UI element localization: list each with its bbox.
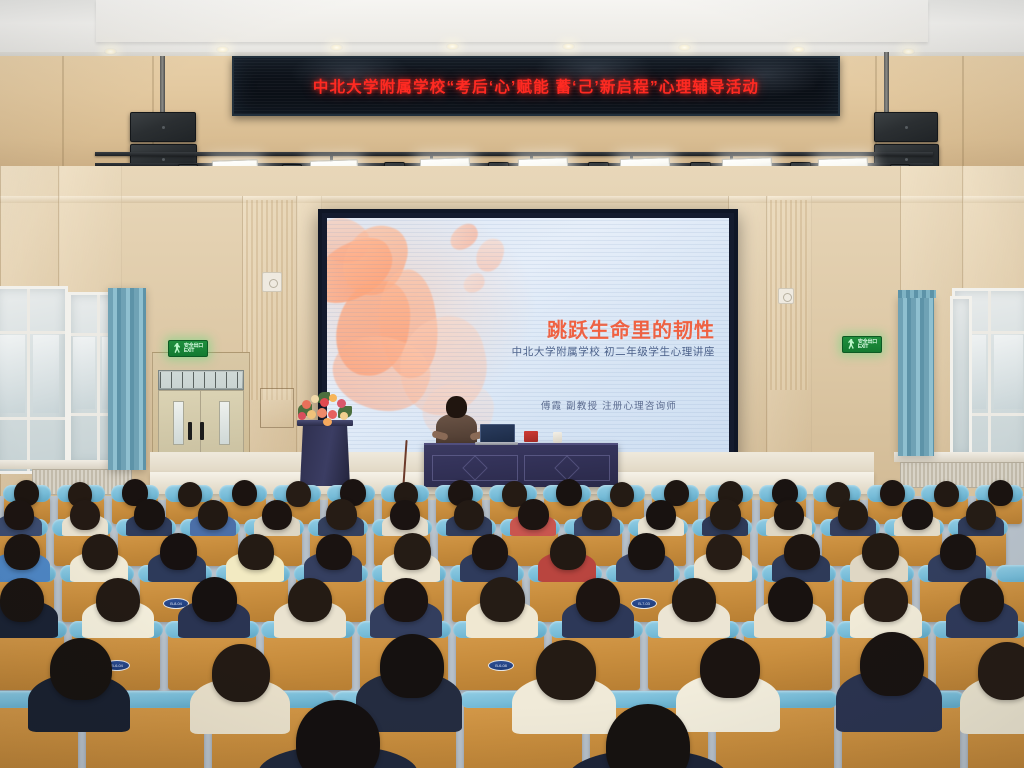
audience-head <box>394 533 431 570</box>
acoustic-slat-panel <box>246 200 294 400</box>
audience-head <box>480 577 525 622</box>
audience-head <box>518 499 549 530</box>
audience-head <box>50 638 112 700</box>
door-handle[interactable] <box>188 422 192 440</box>
audience-head <box>960 578 1004 622</box>
audience-head <box>384 578 428 622</box>
ceiling-slab <box>96 0 928 42</box>
audience-head <box>550 534 586 570</box>
audience-head <box>238 534 274 570</box>
exit-sign-left: 安全出口EXIT <box>168 340 208 357</box>
presenter-head <box>446 396 467 418</box>
audience-head <box>380 634 444 698</box>
wall-seam <box>962 56 964 166</box>
audience-head <box>576 578 620 622</box>
audience-area: B-8-02 B-8-04 B-8-06 B-7-03 B-7-05 <box>0 478 1024 768</box>
audience-head <box>4 534 40 570</box>
projection-screen: 跳跃生命里的韧性 中北大学附属学校 初二年级学生心理讲座 傅霞 副教授 注册心理… <box>318 209 738 462</box>
audience-head <box>934 481 959 507</box>
door-handle[interactable] <box>200 422 204 440</box>
curtain-right <box>898 296 934 456</box>
audience-head <box>978 642 1024 700</box>
audience-head <box>96 578 140 622</box>
downlight <box>446 43 459 50</box>
audience-head <box>966 500 996 530</box>
curtain-valance-right <box>898 290 936 298</box>
downlight <box>216 46 229 53</box>
desk-red-item <box>524 431 538 442</box>
audience-head <box>134 499 165 530</box>
audience-head <box>774 500 804 530</box>
window-right-outer <box>950 296 972 458</box>
audience-head <box>326 499 357 530</box>
audience-head <box>646 500 676 530</box>
audience-head <box>556 479 582 506</box>
desk-cup <box>553 432 562 443</box>
downlight <box>104 48 117 55</box>
audience-head <box>628 533 665 570</box>
audience-head <box>0 578 44 622</box>
audience-head <box>706 534 742 570</box>
wall-control-plate[interactable] <box>262 272 282 292</box>
audience-head <box>940 534 976 570</box>
audience-head <box>178 482 202 507</box>
audience-head <box>4 500 34 530</box>
audience-head <box>902 499 933 530</box>
running-man-icon <box>847 339 856 350</box>
downlight <box>562 43 575 50</box>
wall-band <box>0 196 1024 203</box>
audience-head <box>988 480 1013 506</box>
audience-head <box>784 534 820 570</box>
presenter-body <box>436 414 477 446</box>
audience-head <box>454 500 484 530</box>
running-man-icon <box>173 343 182 354</box>
seat-number-plate: B-6-08 <box>488 660 514 671</box>
audience-head <box>700 638 760 698</box>
audience-head <box>864 578 908 622</box>
audience-head <box>316 534 352 570</box>
audience-head <box>710 499 741 530</box>
audience-head <box>232 480 257 506</box>
audience-head <box>610 482 634 507</box>
auditorium-scene: 中北大学附属学校“考后‘心’赋能 蓄‘己’新启程”心理辅导活动 <box>0 0 1024 768</box>
wall-control-plate[interactable] <box>778 288 794 304</box>
audience-head <box>212 644 270 702</box>
audience-head <box>262 500 292 530</box>
audience-head <box>880 480 905 506</box>
slide-surface: 跳跃生命里的韧性 中北大学附属学校 初二年级学生心理讲座 傅霞 副教授 注册心理… <box>327 218 729 453</box>
audience-head <box>160 533 197 570</box>
audience-head <box>288 578 332 622</box>
downlight <box>792 46 805 53</box>
curtain-left <box>108 288 146 470</box>
seat[interactable] <box>264 630 352 690</box>
speaker-rigging-rod <box>884 52 889 114</box>
led-banner-text: 中北大学附属学校“考后‘心’赋能 蓄‘己’新启程”心理辅导活动 <box>313 75 759 97</box>
flower-arrangement <box>296 390 354 426</box>
downlight <box>330 44 343 51</box>
audience-head <box>536 640 596 700</box>
presenter-laptop-base <box>475 442 518 445</box>
audience-head <box>198 500 228 530</box>
audience-head <box>838 500 868 530</box>
audience-head <box>862 533 899 570</box>
speaker-rigging-rod <box>160 56 165 114</box>
audience-head <box>472 534 508 570</box>
audience-head <box>70 500 100 530</box>
led-banner: 中北大学附属学校“考后‘心’赋能 蓄‘己’新启程”心理辅导活动 <box>232 56 840 116</box>
exit-sign-label: 安全出口EXIT <box>858 340 877 350</box>
wall-access-panel <box>260 388 294 428</box>
wall-seam <box>62 56 64 166</box>
audience-head <box>860 632 924 696</box>
audience-head <box>82 534 118 570</box>
window-left-outer <box>0 286 68 474</box>
lighting-truss <box>95 152 933 156</box>
podium <box>300 424 350 486</box>
door-transom <box>158 370 244 390</box>
downlight <box>678 44 691 51</box>
audience-head <box>286 481 311 507</box>
audience-head <box>672 578 716 622</box>
audience-head <box>582 500 612 530</box>
seat-number-plate: B-7-03 <box>631 598 657 609</box>
exit-sign-label: 安全出口EXIT <box>184 344 203 354</box>
audience-head <box>390 500 420 530</box>
audience-head <box>192 577 237 622</box>
screen-scanlines <box>327 218 729 453</box>
exit-sign-right: 安全出口EXIT <box>842 336 882 353</box>
audience-head <box>768 577 813 622</box>
downlight <box>902 48 915 55</box>
